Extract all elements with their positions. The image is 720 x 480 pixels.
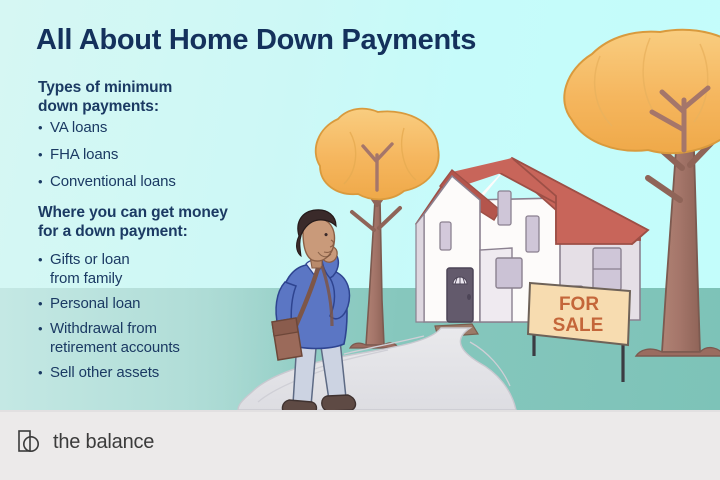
section-heading-2: Where you can get money for a down payme… xyxy=(38,203,228,241)
house-door xyxy=(447,268,473,322)
shoe-right xyxy=(322,395,356,411)
eye xyxy=(324,233,327,236)
section-heading-1: Types of minimum down payments: xyxy=(38,78,172,116)
sign-text-for: FOR xyxy=(559,294,599,315)
window xyxy=(498,191,511,225)
the-balance-b-mark xyxy=(16,428,44,456)
list-item: Personal loan xyxy=(38,294,180,313)
list-item: Conventional loans xyxy=(38,172,176,191)
list-item: Withdrawal from retirement accounts xyxy=(38,319,180,357)
section-list-1: VA loans FHA loans Conventional loans xyxy=(38,118,176,199)
infographic-canvas: FOR SALE xyxy=(0,0,720,480)
brand-name: the balance xyxy=(53,431,154,454)
brand-logo: the balance xyxy=(16,428,154,456)
list-item: Gifts or loan from family xyxy=(38,250,180,288)
footer-divider xyxy=(0,410,720,412)
window xyxy=(440,222,451,250)
list-item: VA loans xyxy=(38,118,176,137)
window xyxy=(526,216,539,252)
list-item: Sell other assets xyxy=(38,363,180,382)
sign-text-sale: SALE xyxy=(553,315,604,336)
section-list-2: Gifts or loan from family Personal loan … xyxy=(38,250,180,388)
window xyxy=(496,258,522,288)
page-title: All About Home Down Payments xyxy=(36,24,476,57)
for-sale-sign: FOR SALE xyxy=(528,283,630,382)
list-item: FHA loans xyxy=(38,145,176,164)
bag-flap xyxy=(272,318,298,336)
